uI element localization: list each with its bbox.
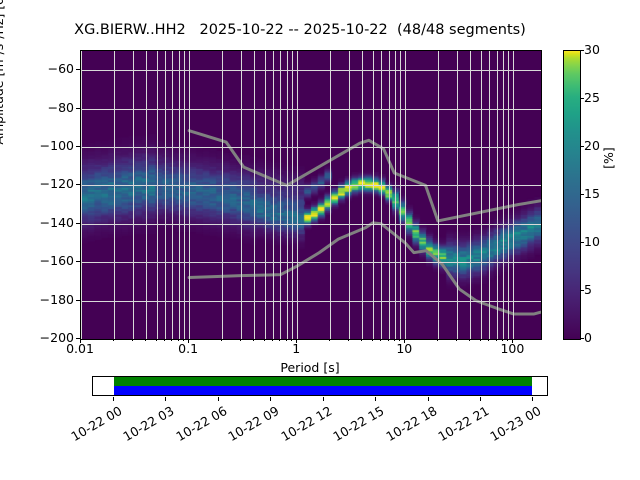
y-gridline (81, 224, 541, 225)
x-minor-tick-mark (394, 339, 395, 341)
x-gridline (503, 51, 504, 339)
colorbar (563, 50, 581, 340)
x-minor-tick-mark (388, 339, 389, 341)
x-gridline (133, 51, 134, 339)
x-tick-label: 1 (266, 341, 326, 356)
colorbar-tick-label: 30 (584, 42, 600, 57)
x-gridline (381, 51, 382, 339)
y-tick-label: −60 (18, 61, 74, 76)
x-gridline (400, 51, 401, 339)
x-gridline (508, 51, 509, 339)
noise-model-overlay (81, 51, 541, 339)
y-tick-label: −160 (18, 253, 74, 268)
x-gridline (184, 51, 185, 339)
x-gridline (265, 51, 266, 339)
x-minor-tick-mark (240, 339, 241, 341)
x-minor-tick-mark (132, 339, 133, 341)
x-minor-tick-mark (437, 339, 438, 341)
x-gridline (81, 51, 82, 339)
x-minor-tick-mark (456, 339, 457, 341)
x-tick-mark (188, 339, 189, 343)
x-gridline (280, 51, 281, 339)
x-minor-tick-mark (272, 339, 273, 341)
x-minor-tick-mark (183, 339, 184, 341)
timeline-tick-mark (323, 397, 324, 401)
timeline-tick-mark (532, 397, 533, 401)
x-minor-tick-mark (348, 339, 349, 341)
timeline-tick-mark (165, 397, 166, 401)
colorbar-tick-mark (580, 194, 584, 195)
x-gridline (362, 51, 363, 339)
x-gridline (172, 51, 173, 339)
y-tick-mark (76, 108, 80, 109)
timeline-tick-label: 10-23 00 (479, 403, 544, 449)
x-minor-tick-mark (156, 339, 157, 341)
x-gridline (438, 51, 439, 339)
x-gridline (457, 51, 458, 339)
x-gridline (179, 51, 180, 339)
y-tick-mark (76, 146, 80, 147)
timeline-tick-label: 10-22 03 (112, 403, 177, 449)
x-tick-mark (512, 339, 513, 343)
x-gridline (297, 51, 298, 339)
x-minor-tick-mark (264, 339, 265, 341)
y-tick-label: −140 (18, 215, 74, 230)
x-tick-mark (80, 339, 81, 343)
x-gridline (189, 51, 190, 339)
axes-inner (81, 51, 541, 339)
x-tick-mark (296, 339, 297, 343)
y-gridline (81, 109, 541, 110)
x-gridline (349, 51, 350, 339)
x-minor-tick-mark (253, 339, 254, 341)
x-minor-tick-mark (488, 339, 489, 341)
colorbar-tick-mark (580, 50, 584, 51)
x-minor-tick-mark (480, 339, 481, 341)
y-gridline (81, 262, 541, 263)
y-tick-label: −120 (18, 176, 74, 191)
x-gridline (241, 51, 242, 339)
x-gridline (373, 51, 374, 339)
x-gridline (497, 51, 498, 339)
x-minor-tick-mark (291, 339, 292, 341)
colorbar-tick-mark (580, 98, 584, 99)
colorbar-tick-mark (580, 338, 584, 339)
x-gridline (222, 51, 223, 339)
x-gridline (165, 51, 166, 339)
colorbar-tick-mark (580, 290, 584, 291)
y-tick-label: −100 (18, 138, 74, 153)
x-tick-label: 100 (482, 341, 542, 356)
x-minor-tick-mark (329, 339, 330, 341)
timeline-tick-mark (428, 397, 429, 401)
y-tick-mark (76, 184, 80, 185)
x-gridline (273, 51, 274, 339)
y-gridline (81, 339, 541, 340)
x-minor-tick-mark (507, 339, 508, 341)
x-gridline (470, 51, 471, 339)
x-minor-tick-mark (113, 339, 114, 341)
timeline-tick-mark (113, 397, 114, 401)
colorbar-tick-label: 25 (584, 90, 600, 105)
x-gridline (330, 51, 331, 339)
ppsd-axes (80, 50, 542, 340)
x-minor-tick-mark (372, 339, 373, 341)
colorbar-tick-label: 5 (584, 282, 592, 297)
x-minor-tick-mark (496, 339, 497, 341)
x-tick-mark (404, 339, 405, 343)
timeline-tick-mark (270, 397, 271, 401)
colorbar-tick-label: 20 (584, 138, 600, 153)
y-tick-mark (76, 261, 80, 262)
x-gridline (254, 51, 255, 339)
colorbar-tick-mark (580, 242, 584, 243)
x-tick-label: 0.1 (158, 341, 218, 356)
x-gridline (405, 51, 406, 339)
y-gridline (81, 301, 541, 302)
x-gridline (114, 51, 115, 339)
colorbar-tick-mark (580, 146, 584, 147)
x-minor-tick-mark (286, 339, 287, 341)
x-minor-tick-mark (164, 339, 165, 341)
y-tick-label: −180 (18, 292, 74, 307)
x-gridline (146, 51, 147, 339)
x-minor-tick-mark (145, 339, 146, 341)
timeline-tick-mark (480, 397, 481, 401)
y-gridline (81, 147, 541, 148)
y-tick-label: −80 (18, 100, 74, 115)
x-gridline (513, 51, 514, 339)
colorbar-tick-label: 0 (584, 330, 592, 345)
x-minor-tick-mark (469, 339, 470, 341)
y-tick-mark (76, 223, 80, 224)
timeline-tick-label: 10-22 15 (322, 403, 387, 449)
y-tick-mark (76, 300, 80, 301)
y-gridline (81, 185, 541, 186)
timeline-coverage-bar (92, 376, 548, 396)
x-minor-tick-mark (502, 339, 503, 341)
timeline-tick-mark (375, 397, 376, 401)
x-gridline (389, 51, 390, 339)
colorbar-tick-label: 15 (584, 186, 600, 201)
x-gridline (157, 51, 158, 339)
x-minor-tick-mark (361, 339, 362, 341)
y-tick-mark (76, 69, 80, 70)
x-minor-tick-mark (279, 339, 280, 341)
x-gridline (287, 51, 288, 339)
x-gridline (292, 51, 293, 339)
x-minor-tick-mark (399, 339, 400, 341)
ppsd-figure: XG.BIERW..HH2 2025-10-22 -- 2025-10-22 (… (0, 0, 640, 480)
timeline-tick-mark (218, 397, 219, 401)
x-minor-tick-mark (178, 339, 179, 341)
x-axis-label: Period [s] (80, 360, 540, 375)
timeline-psd-bar (114, 386, 532, 395)
timeline-tick-label: 10-22 09 (217, 403, 282, 449)
x-minor-tick-mark (221, 339, 222, 341)
x-gridline (395, 51, 396, 339)
colorbar-tick-label: 10 (584, 234, 600, 249)
x-gridline (481, 51, 482, 339)
x-tick-label: 10 (374, 341, 434, 356)
y-axis-label: Amplitude [m²/s⁴/Hz] [dB] (0, 0, 6, 194)
timeline-data-bar (114, 377, 532, 386)
x-minor-tick-mark (380, 339, 381, 341)
x-minor-tick-mark (171, 339, 172, 341)
colorbar-label: [%] (601, 138, 616, 178)
x-gridline (489, 51, 490, 339)
figure-title: XG.BIERW..HH2 2025-10-22 -- 2025-10-22 (… (0, 22, 600, 38)
x-tick-label: 0.01 (50, 341, 110, 356)
y-gridline (81, 70, 541, 71)
